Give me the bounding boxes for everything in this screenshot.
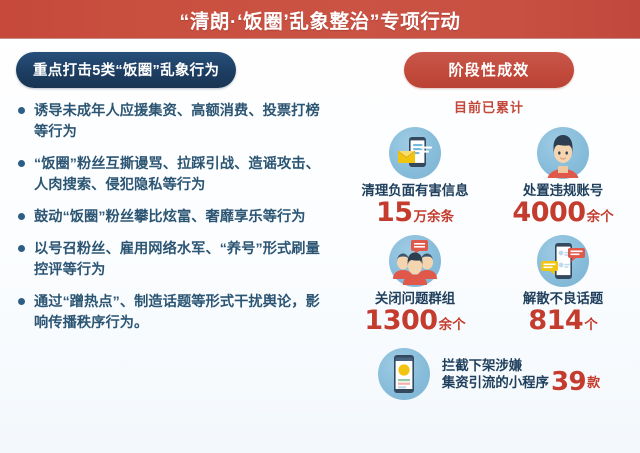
stat-card: 关闭问题群组 1300余个 [346,235,484,334]
violation-list: 诱导未成年人应援集资、高额消费、投票打榜等行为 “饭圈”粉丝互撕谩骂、拉踩引战、… [16,101,332,334]
infographic-poster: “清朗·‘饭圈’乱象整治”专项行动 重点打击5类“饭圈”乱象行为 诱导未成年人应… [0,0,640,453]
right-panel-subtitle: 目前已累计 [346,97,632,116]
phone-mail-icon [389,127,441,179]
phone-mail-icon-art [389,127,441,179]
list-item: 以号召粉丝、雇用网络水军、“养号”形式刷量控评等行为 [16,239,332,281]
list-item: 鼓动“饭圈”粉丝攀比炫富、奢靡享乐等行为 [16,207,332,228]
right-panel-heading: 阶段性成效 [404,52,573,88]
stat-value: 814个 [494,307,632,334]
bullet-dot-icon [18,160,25,167]
stats-row: 清理负面有害信息 15万余条 [346,127,632,226]
stat-number: 39 [551,367,586,397]
stat-value: 15万余条 [346,199,484,226]
stat-unit: 个 [584,317,598,332]
mini-program-phone-icon-art [378,348,430,400]
stat-unit: 余个 [587,209,614,224]
stat-card: 处置违规账号 4000余个 [494,127,632,226]
stat-label-line2: 集资引流的小程序39款 [442,374,600,391]
stat-unit: 万余条 [414,209,455,224]
poster-body: 重点打击5类“饭圈”乱象行为 诱导未成年人应援集资、高额消费、投票打榜等行为 “… [0,38,640,453]
list-item-label: 鼓动“饭圈”粉丝攀比炫富、奢靡享乐等行为 [34,207,306,228]
left-panel: 重点打击5类“饭圈”乱象行为 诱导未成年人应援集资、高额消费、投票打榜等行为 “… [16,52,332,345]
user-avatar-icon [537,127,589,179]
bullet-dot-icon [18,245,25,252]
stat-number: 15 [376,197,413,228]
stat-value: 1300余个 [346,307,484,334]
stat-number: 814 [528,305,583,336]
bullet-dot-icon [18,298,25,305]
stat-value: 4000余个 [494,199,632,226]
group-chat-icon [389,235,441,287]
list-item: 通过“蹭热点”、制造话题等形式干扰舆论，影响传播秩序行为。 [16,292,332,334]
stat-number: 1300 [364,305,437,336]
phone-chat-icon-art [537,235,589,287]
stats-grid: 清理负面有害信息 15万余条 [346,127,632,400]
stats-row: 关闭问题群组 1300余个 [346,226,632,334]
poster-header: “清朗·‘饭圈’乱象整治”专项行动 [0,0,640,38]
stat-card-wide: 拦截下架涉嫌 集资引流的小程序39款 [346,348,632,400]
list-item-label: “饭圈”粉丝互撕谩骂、拉踩引战、造谣攻击、人肉搜索、侵犯隐私等行为 [34,154,332,196]
group-chat-icon-art [389,235,441,287]
stat-unit: 款 [587,375,600,390]
page-title: “清朗·‘饭圈’乱象整治”专项行动 [179,5,460,34]
phone-chat-icon [537,235,589,287]
list-item-label: 以号召粉丝、雇用网络水军、“养号”形式刷量控评等行为 [34,239,332,281]
stat-number: 4000 [512,197,585,228]
user-avatar-icon-art [537,127,589,179]
list-item: “饭圈”粉丝互撕谩骂、拉踩引战、造谣攻击、人肉搜索、侵犯隐私等行为 [16,154,332,196]
right-panel-header: 阶段性成效 目前已累计 [346,52,632,116]
bullet-dot-icon [18,107,25,114]
right-panel: 阶段性成效 目前已累计 [346,52,632,400]
stat-card: 解散不良话题 814个 [494,235,632,334]
list-item-label: 通过“蹭热点”、制造话题等形式干扰舆论，影响传播秩序行为。 [34,292,332,334]
stat-unit: 余个 [439,317,466,332]
stat-card: 清理负面有害信息 15万余条 [346,127,484,226]
stat-label-line2-text: 集资引流的小程序 [442,375,549,390]
mini-program-phone-icon [378,348,430,400]
stat-label: 清理负面有害信息 [346,183,484,199]
bullet-dot-icon [18,213,25,220]
list-item: 诱导未成年人应援集资、高额消费、投票打榜等行为 [16,101,332,143]
stat-wide-text: 拦截下架涉嫌 集资引流的小程序39款 [442,357,600,391]
list-item-label: 诱导未成年人应援集资、高额消费、投票打榜等行为 [34,101,332,143]
left-panel-heading: 重点打击5类“饭圈”乱象行为 [16,52,236,88]
